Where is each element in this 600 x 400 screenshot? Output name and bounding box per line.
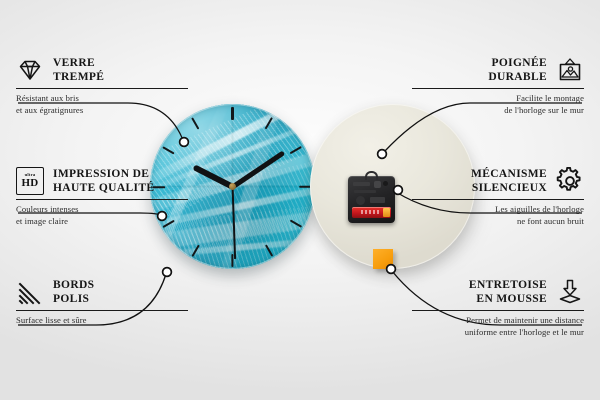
- feature-poignee-durable: POIGNÉE DURABLE Facilite le montage de l…: [412, 56, 584, 116]
- divider: [16, 88, 188, 89]
- feature-verre-trempe: VERRE TREMPÉ Résistant aux bris et aux é…: [16, 56, 188, 116]
- feature-description: Résistant aux bris et aux égratignures: [16, 93, 188, 116]
- hanger-handle-icon: [365, 171, 378, 180]
- divider: [16, 310, 188, 311]
- picture-frame-hanger-icon: [556, 56, 584, 84]
- feature-mecanisme-silencieux: MÉCANISME SILENCIEUX Les aiguilles de l'…: [412, 167, 584, 227]
- diagonal-lines-icon: [16, 278, 44, 306]
- divider: [412, 199, 584, 200]
- feature-description: Couleurs intenses et image claire: [16, 204, 188, 227]
- feature-impression-haute-qualite: ultra HD IMPRESSION DE HAUTE QUALITÉ Cou…: [16, 167, 188, 227]
- feature-title: IMPRESSION DE HAUTE QUALITÉ: [53, 167, 154, 195]
- feature-title: VERRE TREMPÉ: [53, 56, 104, 84]
- divider: [412, 310, 584, 311]
- feature-description: Facilite le montage de l'horloge sur le …: [412, 93, 584, 116]
- diamond-icon: [16, 56, 44, 84]
- feature-description: Permet de maintenir une distance uniform…: [412, 315, 584, 338]
- feature-entretoise-en-mousse: ENTRETOISE EN MOUSSE Permet de maintenir…: [412, 278, 584, 338]
- feature-description: Surface lisse et sûre: [16, 315, 188, 327]
- foam-spacer: [373, 249, 393, 269]
- feature-title: BORDS POLIS: [53, 278, 94, 306]
- gear-icon: [556, 167, 584, 195]
- feature-title: MÉCANISME SILENCIEUX: [471, 167, 547, 195]
- divider: [16, 199, 188, 200]
- feature-title: POIGNÉE DURABLE: [488, 56, 547, 84]
- arrow-down-onto-layers-icon: [556, 278, 584, 306]
- divider: [412, 88, 584, 89]
- quartz-mechanism: [348, 176, 395, 223]
- feature-bords-polis: BORDS POLIS Surface lisse et sûre: [16, 278, 188, 327]
- ultra-hd-icon: ultra HD: [16, 167, 44, 195]
- feature-description: Les aiguilles de l'horloge ne font aucun…: [412, 204, 584, 227]
- feature-title: ENTRETOISE EN MOUSSE: [469, 278, 547, 306]
- battery: [352, 207, 391, 218]
